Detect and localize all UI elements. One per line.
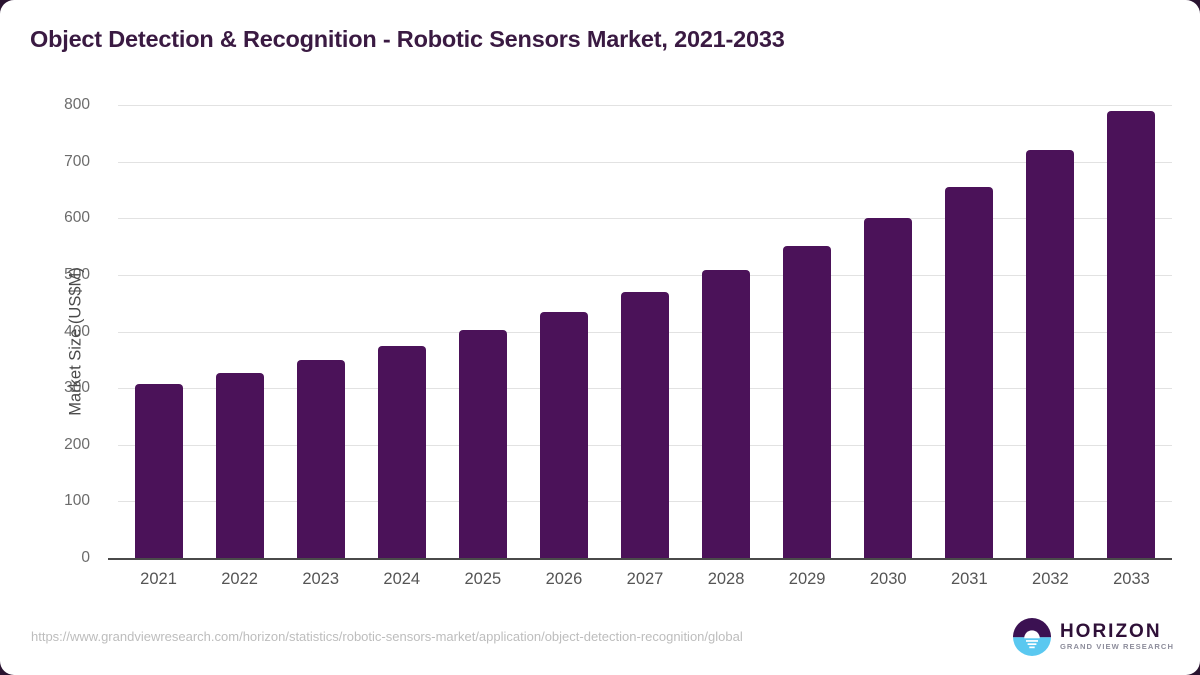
logo-text: HORIZON GRAND VIEW RESEARCH — [1060, 622, 1174, 652]
x-axis-tick-label: 2028 — [708, 570, 745, 589]
y-axis-title: Market Size (US$M) — [67, 132, 86, 552]
x-axis-tick-label: 2027 — [627, 570, 664, 589]
x-axis-line — [108, 558, 1172, 560]
logo-tagline: GRAND VIEW RESEARCH — [1060, 642, 1174, 652]
bar[interactable] — [459, 330, 507, 558]
x-axis-tick-label: 2031 — [951, 570, 988, 589]
chart-card: Object Detection & Recognition - Robotic… — [0, 0, 1200, 675]
brand-logo: HORIZON GRAND VIEW RESEARCH — [1013, 616, 1174, 658]
y-axis-tick-label: 0 — [30, 549, 90, 567]
x-axis-tick-label: 2021 — [140, 570, 177, 589]
page-title: Object Detection & Recognition - Robotic… — [30, 26, 785, 53]
bar[interactable] — [1026, 150, 1074, 558]
bar-series — [118, 105, 1172, 558]
source-url[interactable]: https://www.grandviewresearch.com/horizo… — [31, 629, 743, 644]
x-axis-tick-label: 2033 — [1113, 570, 1150, 589]
bar[interactable] — [540, 312, 588, 558]
x-axis-tick-label: 2026 — [546, 570, 583, 589]
bar[interactable] — [378, 346, 426, 558]
bar[interactable] — [783, 246, 831, 558]
x-axis-tick-label: 2022 — [221, 570, 258, 589]
bar[interactable] — [945, 187, 993, 558]
bar[interactable] — [216, 373, 264, 558]
bar[interactable] — [702, 270, 750, 558]
bar[interactable] — [297, 360, 345, 558]
x-axis-tick-label: 2029 — [789, 570, 826, 589]
x-axis-tick-label: 2024 — [383, 570, 420, 589]
bar[interactable] — [1107, 111, 1155, 558]
bar[interactable] — [864, 218, 912, 558]
bar[interactable] — [135, 384, 183, 558]
x-axis-tick-label: 2023 — [302, 570, 339, 589]
x-axis-tick-label: 2025 — [464, 570, 501, 589]
plot-area: 0100200300400500600700800 Market Size (U… — [118, 105, 1172, 558]
logo-name: HORIZON — [1060, 622, 1174, 642]
bar[interactable] — [621, 292, 669, 558]
x-axis-tick-label: 2030 — [870, 570, 907, 589]
horizon-sun-circle-icon — [1013, 618, 1051, 656]
y-axis-tick-label: 800 — [30, 96, 90, 114]
x-axis-tick-label: 2032 — [1032, 570, 1069, 589]
